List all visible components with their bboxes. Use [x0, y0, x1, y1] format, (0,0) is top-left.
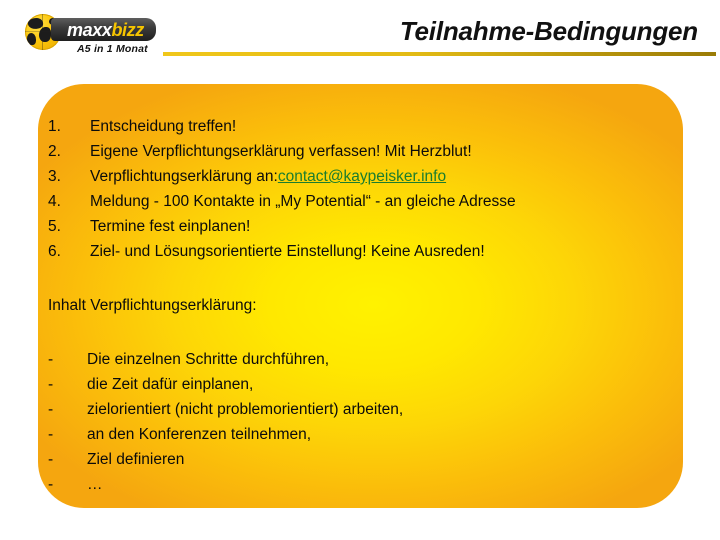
- list-text: zielorientiert (nicht problemorientiert)…: [87, 397, 403, 422]
- logo-wordmark-primary: maxx: [67, 21, 111, 39]
- list-marker: 1.: [48, 114, 90, 139]
- logo-wordmark-secondary: bizz: [111, 21, 143, 39]
- list-text: Verpflichtungserklärung an:: [90, 164, 278, 189]
- list-item: - …: [48, 472, 669, 497]
- list-text: Meldung - 100 Kontakte in „My Potential“…: [90, 189, 516, 214]
- list-item: 3. Verpflichtungserklärung an: contact@k…: [48, 164, 669, 189]
- list-marker: 5.: [48, 214, 90, 239]
- logo-wordmark: maxxbizz: [51, 18, 156, 41]
- list-text: Eigene Verpflichtungserklärung verfassen…: [90, 139, 472, 164]
- page-title: Teilnahme-Bedingungen: [400, 16, 698, 47]
- list-marker: -: [48, 372, 87, 397]
- list-marker: -: [48, 422, 87, 447]
- list-item: 1. Entscheidung treffen!: [48, 114, 669, 139]
- list-marker: 6.: [48, 239, 90, 264]
- slide-header: maxxbizz A5 in 1 Monat Teilnahme-Bedingu…: [0, 0, 720, 64]
- list-text: an den Konferenzen teilnehmen,: [87, 422, 311, 447]
- section-heading: Inhalt Verpflichtungserklärung:: [48, 293, 669, 318]
- logo-tagline: A5 in 1 Monat: [77, 43, 148, 55]
- list-text: Ziel- und Lösungsorientierte Einstellung…: [90, 239, 485, 264]
- list-item: - an den Konferenzen teilnehmen,: [48, 422, 669, 447]
- list-item: - Die einzelnen Schritte durchführen,: [48, 347, 669, 372]
- list-marker: -: [48, 397, 87, 422]
- content-panel: 1. Entscheidung treffen! 2. Eigene Verpf…: [38, 84, 683, 508]
- list-text: Ziel definieren: [87, 447, 184, 472]
- list-marker: 3.: [48, 164, 90, 189]
- email-link[interactable]: contact@kaypeisker.info: [278, 164, 446, 189]
- dash-list: - Die einzelnen Schritte durchführen, - …: [48, 347, 669, 497]
- list-item: - Ziel definieren: [48, 447, 669, 472]
- list-item: - zielorientiert (nicht problemorientier…: [48, 397, 669, 422]
- list-marker: 2.: [48, 139, 90, 164]
- list-item: 4. Meldung - 100 Kontakte in „My Potenti…: [48, 189, 669, 214]
- maxxbizz-logo: maxxbizz A5 in 1 Monat: [25, 14, 180, 60]
- list-marker: -: [48, 347, 87, 372]
- list-item: 5. Termine fest einplanen!: [48, 214, 669, 239]
- numbered-list: 1. Entscheidung treffen! 2. Eigene Verpf…: [48, 114, 669, 264]
- list-text: …: [87, 472, 103, 497]
- list-marker: -: [48, 447, 87, 472]
- list-text: die Zeit dafür einplanen,: [87, 372, 253, 397]
- list-item: - die Zeit dafür einplanen,: [48, 372, 669, 397]
- header-divider: [163, 52, 716, 56]
- list-marker: 4.: [48, 189, 90, 214]
- list-item: 6. Ziel- und Lösungsorientierte Einstell…: [48, 239, 669, 264]
- list-item: 2. Eigene Verpflichtungserklärung verfas…: [48, 139, 669, 164]
- list-text: Die einzelnen Schritte durchführen,: [87, 347, 329, 372]
- list-text: Termine fest einplanen!: [90, 214, 250, 239]
- list-text: Entscheidung treffen!: [90, 114, 236, 139]
- list-marker: -: [48, 472, 87, 497]
